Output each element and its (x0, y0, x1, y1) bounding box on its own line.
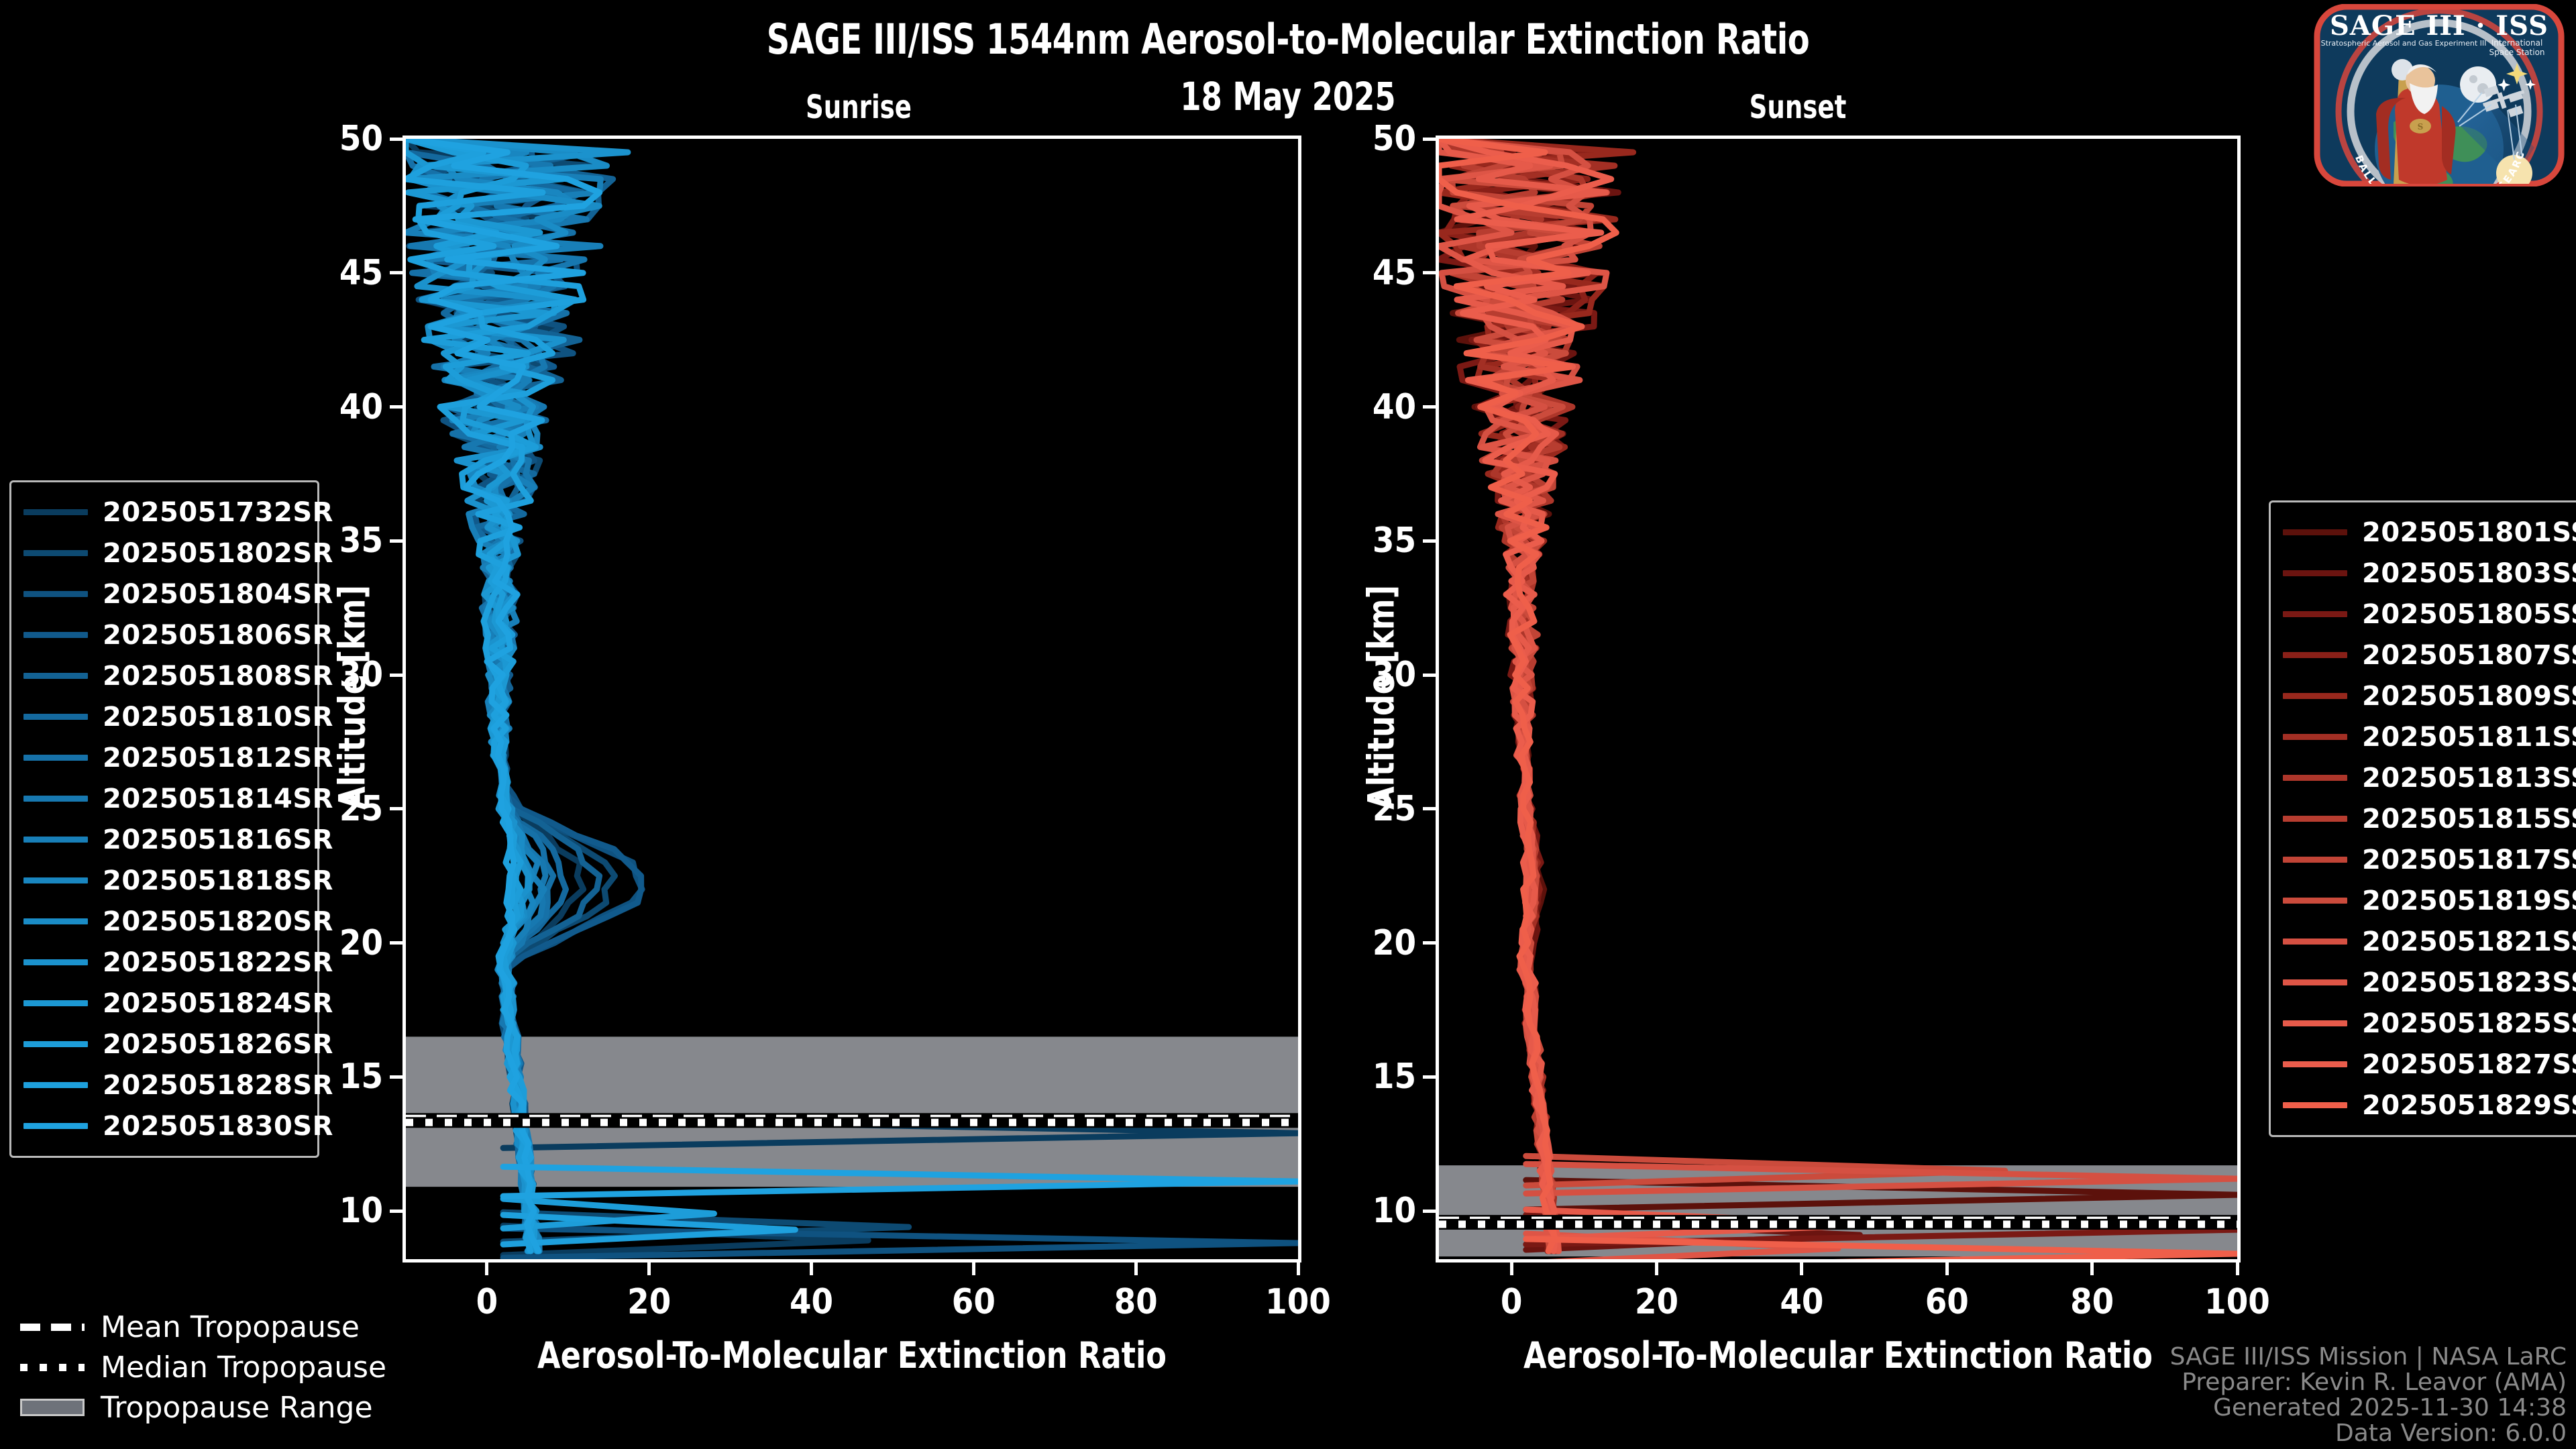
xtick-label: 60 (1925, 1282, 1969, 1322)
legend-color-swatch (23, 1082, 88, 1088)
ytick-label: 15 (339, 1057, 383, 1097)
ytick (1423, 674, 1439, 677)
page-title: SAGE III/ISS 1544nm Aerosol-to-Molecular… (180, 15, 2396, 64)
legend-item[interactable]: 2025051819SS (2283, 880, 2565, 921)
legend-item[interactable]: 2025051808SR (23, 655, 304, 696)
svg-text:Space Station: Space Station (2489, 48, 2544, 57)
legend-item-tropopause-range: Tropopause Range (20, 1387, 396, 1428)
legend-color-swatch (2283, 775, 2347, 781)
legend-item[interactable]: 2025051812SR (23, 737, 304, 778)
ytick (390, 138, 406, 141)
xtick-label: 0 (476, 1282, 498, 1322)
legend-color-swatch (23, 1123, 88, 1129)
legend-item-median-tropopause: Median Tropopause (20, 1347, 396, 1387)
xtick-label: 20 (627, 1282, 671, 1322)
plot-sunrise: 101520253035404550020406080100 Aerosol-T… (402, 136, 1301, 1263)
tropopause-range-band (406, 1036, 1298, 1187)
legend-item[interactable]: 2025051816SR (23, 819, 304, 860)
legend-label-mean-tropopause: Mean Tropopause (101, 1310, 360, 1344)
legend-item[interactable]: 2025051810SR (23, 696, 304, 737)
xtick-label: 100 (1265, 1282, 1331, 1322)
legend-label: 2025051815SS (2362, 804, 2576, 835)
legend-label: 2025051808SR (103, 661, 333, 692)
legend-item[interactable]: 2025051804SR (23, 574, 304, 614)
yaxis-label-sunset: Altitude [km] (1360, 574, 1403, 821)
legend-color-swatch (23, 837, 88, 843)
xtick-label: 100 (2204, 1282, 2270, 1322)
xtick (2090, 1259, 2094, 1275)
legend-color-swatch (2283, 570, 2347, 576)
plot-area-sunrise (406, 139, 1298, 1259)
legend-item[interactable]: 2025051818SR (23, 860, 304, 901)
credit-preparer: Preparer: Kevin R. Leavor (AMA) (2170, 1370, 2567, 1395)
legend-label: 2025051819SS (2362, 885, 2576, 916)
legend-label: 2025051803SS (2362, 558, 2576, 589)
legend-color-swatch (23, 591, 88, 597)
xtick (485, 1259, 488, 1275)
dotted-line-icon (20, 1358, 85, 1376)
legend-item[interactable]: 2025051802SR (23, 533, 304, 574)
legend-item[interactable]: 2025051820SR (23, 901, 304, 942)
profile-curves-sunrise (406, 139, 1298, 1259)
legend-item[interactable]: 2025051825SS (2283, 1003, 2565, 1044)
legend-label: 2025051807SS (2362, 640, 2576, 671)
legend-item[interactable]: 2025051822SR (23, 942, 304, 983)
ytick (1423, 1075, 1439, 1079)
legend-color-swatch (23, 877, 88, 883)
legend-label: 2025051825SS (2362, 1008, 2576, 1039)
credit-data-version: Data Version: 6.0.0 (2170, 1421, 2567, 1446)
ytick (390, 1075, 406, 1079)
credits-block: SAGE III/ISS Mission | NASA LaRC Prepare… (2170, 1344, 2567, 1446)
ytick (390, 807, 406, 810)
legend-label: 2025051806SR (103, 620, 333, 651)
legend-item-mean-tropopause: Mean Tropopause (20, 1307, 396, 1347)
legend-color-swatch (23, 632, 88, 638)
legend-label: 2025051830SR (103, 1111, 333, 1142)
ytick (1423, 138, 1439, 141)
xtick-label: 40 (790, 1282, 833, 1322)
legend-color-swatch (2283, 734, 2347, 740)
ytick (1423, 1210, 1439, 1213)
panel-title-sunrise: Sunrise (720, 89, 998, 126)
panel-title-sunset: Sunset (1660, 89, 1937, 126)
legend-label: 2025051811SS (2362, 722, 2576, 753)
date-subtitle: 18 May 2025 (180, 74, 2396, 119)
legend-item[interactable]: 2025051814SR (23, 778, 304, 819)
legend-item[interactable]: 2025051801SS (2283, 512, 2565, 553)
ytick-label: 40 (339, 387, 383, 427)
sage-iii-iss-logo: S BALL · NASA LANGLEY RESEARCH CENTER · … (2313, 4, 2565, 186)
ytick (1423, 405, 1439, 409)
legend-label: 2025051810SR (103, 702, 333, 733)
ytick-label: 35 (339, 521, 383, 561)
legend-label: 2025051805SS (2362, 599, 2576, 630)
ytick-label: 50 (1373, 119, 1416, 159)
xaxis-label-sunset: Aerosol-To-Molecular Extinction Ratio (1471, 1334, 2206, 1377)
legend-color-swatch (2283, 857, 2347, 863)
ytick (1423, 807, 1439, 810)
legend-item[interactable]: 2025051811SS (2283, 716, 2565, 757)
legend-color-swatch (23, 714, 88, 720)
legend-color-swatch (23, 918, 88, 924)
xtick (1297, 1259, 1300, 1275)
ytick-label: 45 (339, 253, 383, 293)
legend-label: 2025051813SS (2362, 763, 2576, 794)
ytick-label: 45 (1373, 253, 1416, 293)
legend-sunrise[interactable]: 2025051732SR2025051802SR2025051804SR2025… (9, 480, 319, 1158)
xtick (647, 1259, 651, 1275)
profile-spike (503, 1228, 1298, 1258)
legend-item[interactable]: 2025051826SR (23, 1024, 304, 1065)
xtick (2236, 1259, 2239, 1275)
legend-color-swatch (23, 755, 88, 761)
ytick-label: 20 (1373, 923, 1416, 963)
xtick (972, 1259, 975, 1275)
xtick (1510, 1259, 1513, 1275)
legend-item[interactable]: 2025051805SS (2283, 594, 2565, 635)
xtick (1945, 1259, 1949, 1275)
legend-color-swatch (2283, 611, 2347, 617)
ytick-label: 40 (1373, 387, 1416, 427)
legend-label-tropopause-range: Tropopause Range (101, 1391, 373, 1425)
legend-item[interactable]: 2025051813SS (2283, 757, 2565, 798)
legend-color-swatch (2283, 816, 2347, 822)
legend-color-swatch (23, 1041, 88, 1047)
legend-color-swatch (2283, 529, 2347, 535)
svg-text:SAGE III · ISS: SAGE III · ISS (2330, 10, 2548, 42)
legend-label: 2025051823SS (2362, 967, 2576, 998)
xtick-label: 60 (952, 1282, 996, 1322)
ytick-label: 20 (339, 923, 383, 963)
legend-item[interactable]: 2025051806SR (23, 614, 304, 655)
ytick (390, 405, 406, 409)
ytick (390, 1210, 406, 1213)
dashed-line-icon (20, 1318, 85, 1336)
legend-color-swatch (23, 796, 88, 802)
legend-label: 2025051812SR (103, 743, 333, 773)
legend-item[interactable]: 2025051829SS (2283, 1085, 2565, 1126)
legend-sunset[interactable]: 2025051801SS2025051803SS2025051805SS2025… (2269, 500, 2576, 1137)
ytick (390, 941, 406, 945)
ytick (390, 674, 406, 677)
credit-mission: SAGE III/ISS Mission | NASA LaRC (2170, 1344, 2567, 1370)
legend-color-swatch (23, 1000, 88, 1006)
svg-text:S: S (2418, 122, 2424, 131)
filled-band-icon (20, 1399, 85, 1416)
legend-label: 2025051809SS (2362, 681, 2576, 712)
xtick-label: 80 (1114, 1282, 1158, 1322)
legend-label: 2025051816SR (103, 824, 333, 855)
legend-label: 2025051801SS (2362, 517, 2576, 548)
legend-item[interactable]: 2025051803SS (2283, 553, 2565, 594)
ytick (390, 539, 406, 543)
ytick-label: 35 (1373, 521, 1416, 561)
ytick (1423, 271, 1439, 274)
legend-label: 2025051826SR (103, 1029, 333, 1060)
legend-color-swatch (23, 509, 88, 515)
legend-label-median-tropopause: Median Tropopause (101, 1350, 386, 1385)
legend-color-swatch (23, 959, 88, 965)
legend-item[interactable]: 2025051823SS (2283, 962, 2565, 1003)
legend-label: 2025051820SR (103, 906, 333, 937)
legend-color-swatch (2283, 898, 2347, 904)
ytick (390, 271, 406, 274)
legend-label: 2025051829SS (2362, 1090, 2576, 1121)
xtick-label: 80 (2070, 1282, 2114, 1322)
legend-item[interactable]: 2025051824SR (23, 983, 304, 1024)
ytick-label: 10 (339, 1191, 383, 1231)
legend-item[interactable]: 2025051830SR (23, 1106, 304, 1146)
legend-item[interactable]: 2025051827SS (2283, 1044, 2565, 1085)
tropopause-legend: Mean Tropopause Median Tropopause Tropop… (20, 1307, 396, 1428)
legend-color-swatch (23, 673, 88, 679)
ytick-label: 15 (1373, 1057, 1416, 1097)
legend-item[interactable]: 2025051807SS (2283, 635, 2565, 676)
ytick (1423, 941, 1439, 945)
legend-label: 2025051802SR (103, 538, 333, 569)
legend-item[interactable]: 2025051828SR (23, 1065, 304, 1106)
legend-label: 2025051732SR (103, 497, 333, 528)
xtick (1655, 1259, 1658, 1275)
legend-label: 2025051822SR (103, 947, 333, 978)
svg-text:Stratospheric Aerosol and Gas: Stratospheric Aerosol and Gas Experiment… (2321, 39, 2487, 48)
legend-item[interactable]: 2025051732SR (23, 492, 304, 533)
xtick (810, 1259, 813, 1275)
xtick-label: 20 (1635, 1282, 1678, 1322)
legend-item[interactable]: 2025051815SS (2283, 798, 2565, 839)
plot-sunset: 101520253035404550020406080100 Aerosol-T… (1436, 136, 2241, 1263)
legend-color-swatch (2283, 938, 2347, 945)
legend-label: 2025051827SS (2362, 1049, 2576, 1080)
legend-item[interactable]: 2025051821SS (2283, 921, 2565, 962)
legend-item[interactable]: 2025051817SS (2283, 839, 2565, 880)
ytick-label: 10 (1373, 1191, 1416, 1231)
yaxis-label-sunrise: Altitude [km] (331, 574, 374, 821)
legend-color-swatch (23, 550, 88, 556)
legend-color-swatch (2283, 1061, 2347, 1067)
legend-label: 2025051817SS (2362, 845, 2576, 875)
xaxis-label-sunrise: Aerosol-To-Molecular Extinction Ratio (441, 1334, 1263, 1377)
legend-label: 2025051804SR (103, 579, 333, 610)
xtick (1134, 1259, 1138, 1275)
svg-text:International: International (2491, 38, 2543, 48)
profile-curves-sunset (1439, 139, 2237, 1259)
legend-label: 2025051828SR (103, 1070, 333, 1101)
xtick-label: 0 (1501, 1282, 1523, 1322)
legend-item[interactable]: 2025051809SS (2283, 676, 2565, 716)
ytick-label: 50 (339, 119, 383, 159)
legend-color-swatch (2283, 979, 2347, 985)
legend-label: 2025051824SR (103, 988, 333, 1019)
legend-label: 2025051818SR (103, 865, 333, 896)
legend-label: 2025051821SS (2362, 926, 2576, 957)
xtick-label: 40 (1780, 1282, 1823, 1322)
legend-color-swatch (2283, 652, 2347, 658)
ytick (1423, 539, 1439, 543)
credit-generated: Generated 2025-11-30 14:38 (2170, 1395, 2567, 1421)
legend-color-swatch (2283, 693, 2347, 699)
legend-label: 2025051814SR (103, 784, 333, 814)
legend-color-swatch (2283, 1020, 2347, 1026)
xtick (1800, 1259, 1803, 1275)
legend-color-swatch (2283, 1102, 2347, 1108)
plot-area-sunset (1439, 139, 2237, 1259)
